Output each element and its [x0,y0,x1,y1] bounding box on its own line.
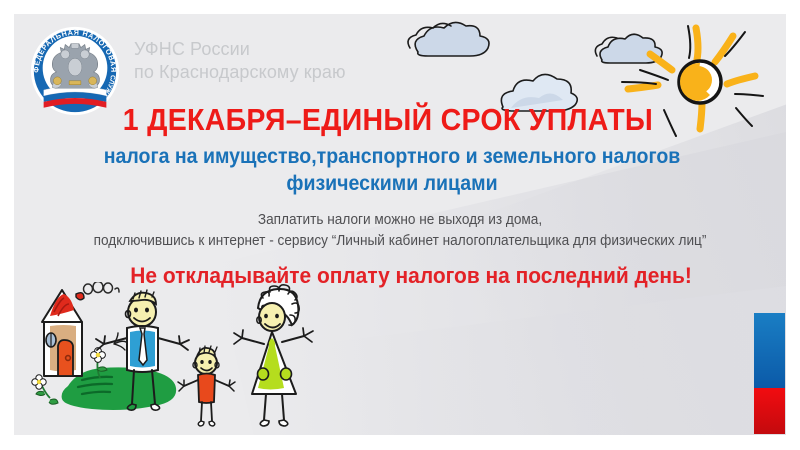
federal-tax-service-emblem-icon: ФЕДЕРАЛЬНАЯ НАЛОГОВАЯ СЛУЖБА [26,22,124,120]
poster-root: ФЕДЕРАЛЬНАЯ НАЛОГОВАЯ СЛУЖБА [0,0,800,450]
flag-stripe-blue [754,313,785,388]
subheadline-line-2: физическими лицами [85,172,699,196]
brand-line-2: по Краснодарскому краю [134,61,346,84]
body-text-line-1: Заплатить налоги можно не выходя из дома… [76,212,725,228]
russian-flag-bar [754,313,785,434]
brand-text-block: УФНС России по Краснодарскому краю [134,38,346,83]
body-text-line-2: подключившись к интернет - сервису “Личн… [62,233,739,249]
flag-stripe-red [754,388,785,434]
brand-line-1: УФНС России [134,38,346,61]
subheadline-line-1: налога на имущество,транспортного и земе… [85,145,699,169]
headline: 1 ДЕКАБРЯ–ЕДИНЫЙ СРОК УПЛАТЫ [123,102,647,138]
call-to-action-text: Не откладывайте оплату налогов на послед… [130,263,669,289]
